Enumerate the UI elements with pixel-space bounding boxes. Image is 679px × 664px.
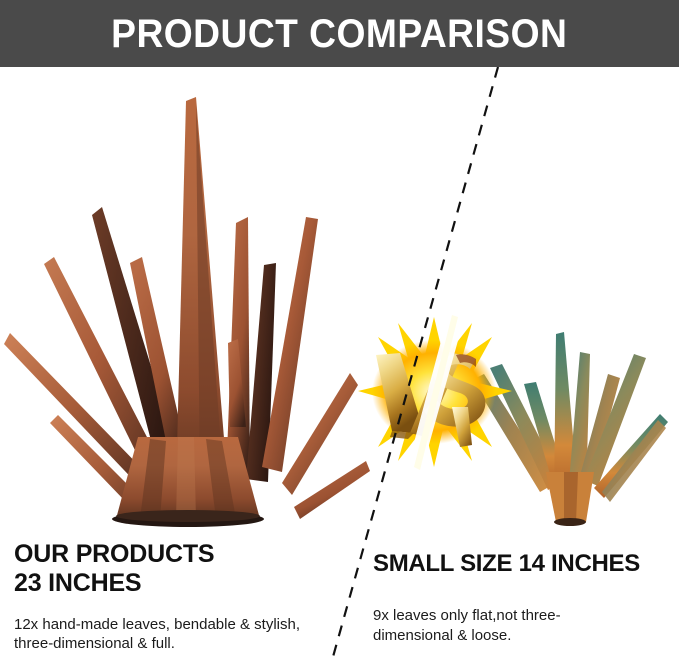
small-agave-base [554,518,586,526]
left-product-body: 12x hand-made leaves, bendable & stylish… [14,615,324,655]
page-title: PRODUCT COMPARISON [111,14,567,54]
vs-badge [352,315,517,470]
right-product-heading: SMALL SIZE 14 INCHES [373,550,668,578]
header-banner: PRODUCT COMPARISON [0,0,679,67]
right-product-caption: SMALL SIZE 14 INCHES 9x leaves only flat… [373,550,668,646]
agave-base-top [116,510,260,522]
agave-body-highlight [176,437,196,519]
small-agave-body-shade [564,472,578,522]
product-comparison-page: PRODUCT COMPARISON [0,0,679,664]
large-copper-agave-image [0,67,370,537]
left-product-caption: OUR PRODUCTS 23 INCHES 12x hand-made lea… [14,540,324,654]
product-stage [0,67,679,537]
left-product-heading: OUR PRODUCTS 23 INCHES [14,540,324,599]
right-product-body: 9x leaves only flat,not three- dimension… [373,606,668,646]
